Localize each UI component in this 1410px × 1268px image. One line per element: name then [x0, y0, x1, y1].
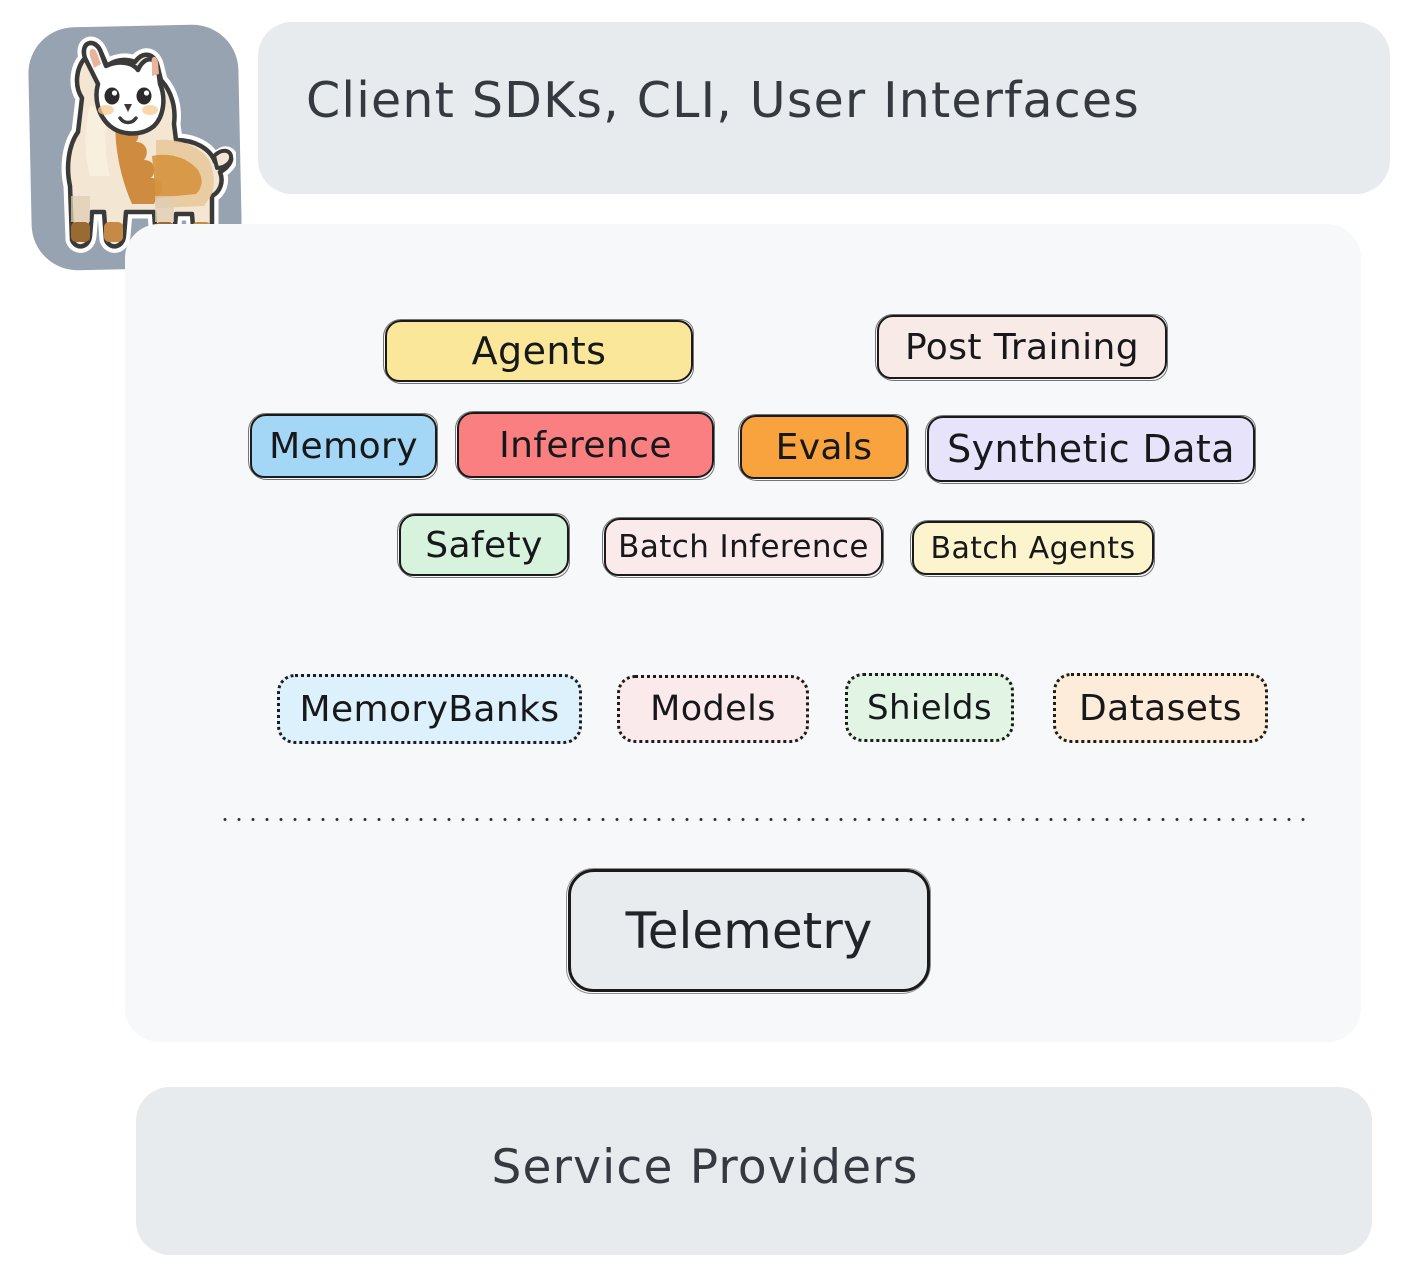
dotted-divider — [218, 817, 1314, 822]
node-label: Batch Agents — [930, 531, 1135, 566]
api-node-memory[interactable]: Memory — [250, 414, 437, 478]
api-node-inference[interactable]: Inference — [457, 412, 714, 478]
provider-layer-title: Service Providers — [0, 1140, 1410, 1195]
node-label: Safety — [425, 525, 543, 566]
api-node-agents[interactable]: Agents — [385, 320, 693, 382]
node-label: Datasets — [1079, 688, 1242, 729]
api-node-post-training[interactable]: Post Training — [877, 315, 1167, 379]
api-node-batch-inference[interactable]: Batch Inference — [604, 518, 883, 576]
node-label: Agents — [472, 329, 607, 373]
telemetry-label: Telemetry — [626, 902, 873, 960]
diagram-canvas: Client SDKs, CLI, User Interfaces — [0, 0, 1410, 1268]
resource-node-models[interactable]: Models — [617, 675, 809, 743]
node-label: Synthetic Data — [947, 427, 1235, 471]
node-label: Inference — [499, 425, 672, 466]
node-label: Shields — [867, 688, 992, 728]
node-label: Batch Inference — [618, 529, 869, 565]
telemetry-node[interactable]: Telemetry — [568, 869, 930, 992]
api-node-evals[interactable]: Evals — [740, 415, 908, 479]
node-label: Models — [650, 689, 776, 729]
api-node-synthetic-data[interactable]: Synthetic Data — [927, 416, 1255, 482]
node-label: Memory — [269, 426, 418, 467]
node-label: Post Training — [905, 327, 1139, 368]
api-node-batch-agents[interactable]: Batch Agents — [912, 521, 1154, 575]
resource-node-memory-banks[interactable]: MemoryBanks — [277, 674, 582, 744]
node-label: MemoryBanks — [300, 689, 560, 730]
resource-node-shields[interactable]: Shields — [845, 673, 1014, 742]
api-node-safety[interactable]: Safety — [399, 514, 569, 576]
resource-node-datasets[interactable]: Datasets — [1053, 673, 1268, 743]
node-label: Evals — [776, 427, 873, 468]
